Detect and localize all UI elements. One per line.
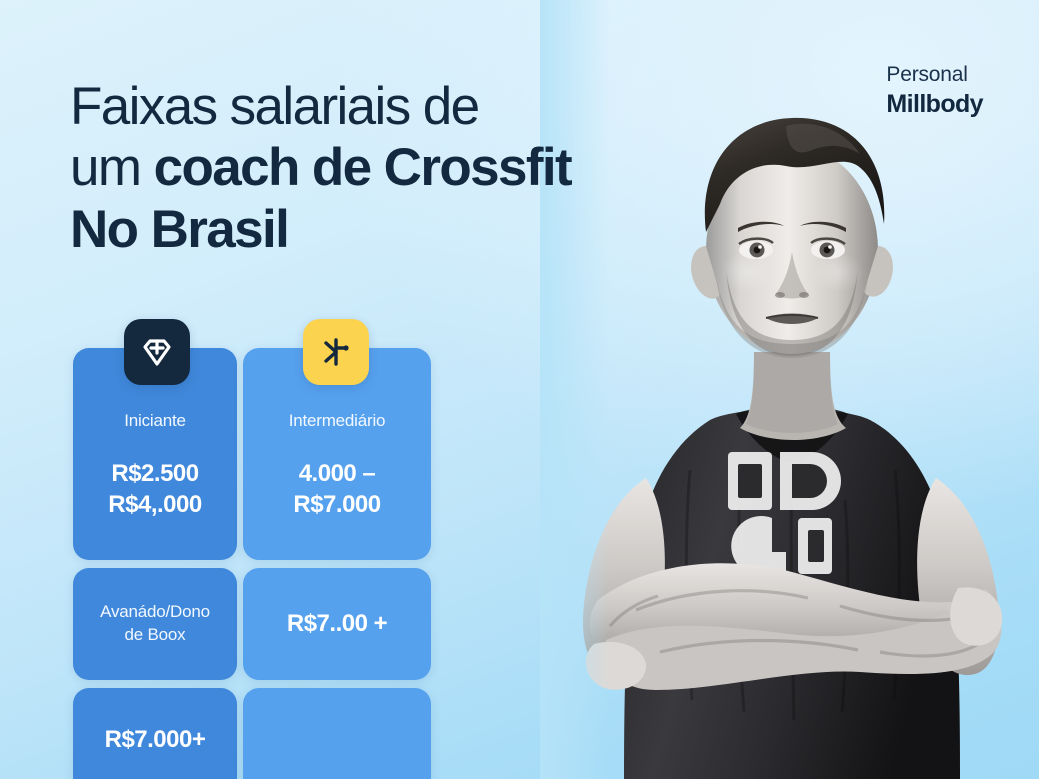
salary-card-value: R$2.500 R$4,.000	[108, 459, 201, 520]
diamond-icon-badge	[124, 319, 190, 385]
kettlebell-icon	[320, 336, 352, 368]
page-title: Faixas salariais de um coach de Crossfit…	[70, 76, 650, 260]
headline-line-3: No Brasil	[70, 199, 650, 260]
kettlebell-icon-badge	[303, 319, 369, 385]
diamond-icon	[140, 335, 174, 369]
salary-card-avancado[interactable]: Avanádo/Dono de Boox	[73, 568, 237, 680]
salary-card-value: R$7..00 +	[287, 609, 387, 640]
headline-line-2: um coach de Crossfit	[70, 137, 650, 198]
salary-card-placeholder[interactable]	[243, 688, 431, 779]
headline-line-1: Faixas salariais de	[70, 76, 650, 137]
salary-range-cards: Iniciante R$2.500 R$4,.000 Intermediário…	[73, 348, 431, 779]
salary-card-label: Intermediário	[289, 410, 386, 433]
poster-canvas: Personal Millbody Faixas salariais de um…	[0, 0, 1039, 779]
brand-logo: Personal Millbody	[886, 62, 983, 120]
salary-card-label: Iniciante	[124, 410, 186, 433]
salary-card-value: R$7.000+	[105, 725, 206, 756]
headline-line-2-bold: coach de Crossfit	[154, 138, 572, 197]
salary-card-topo-valor[interactable]: R$7.000+	[73, 688, 237, 779]
headline-line-2-regular: um	[70, 138, 154, 197]
salary-card-avancado-valor[interactable]: R$7..00 +	[243, 568, 431, 680]
brand-logo-bottom: Millbody	[886, 89, 983, 120]
salary-card-value: 4.000 – R$7.000	[293, 459, 380, 520]
brand-logo-top: Personal	[886, 62, 983, 87]
salary-card-label: Avanádo/Dono de Boox	[100, 601, 210, 647]
